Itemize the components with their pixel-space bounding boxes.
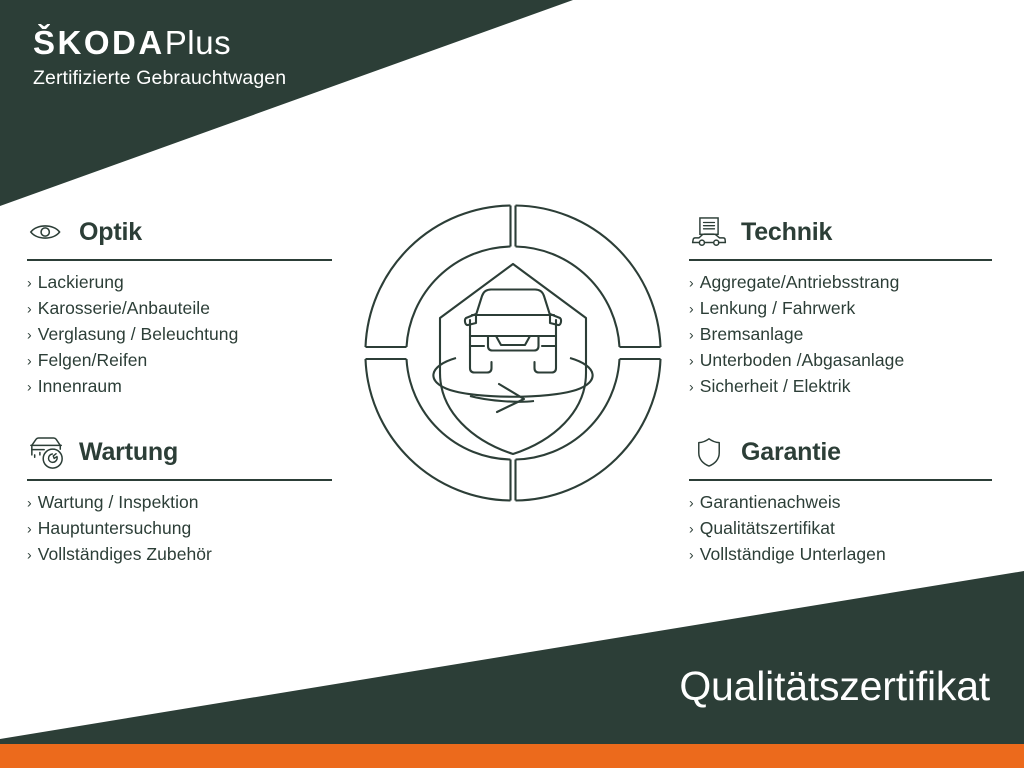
list-item: ›Lenkung / Fahrwerk xyxy=(689,296,1001,322)
section-wartung-title: Wartung xyxy=(79,438,178,467)
section-optik: Optik ›Lackierung ›Karosserie/Anbauteile… xyxy=(27,212,339,401)
chevron-right-icon: › xyxy=(27,349,32,374)
chevron-right-icon: › xyxy=(689,375,694,400)
list-item-label: Sicherheit / Elektrik xyxy=(700,374,851,399)
list-item: ›Hauptuntersuchung xyxy=(27,516,339,542)
footer-green-wedge xyxy=(0,571,1024,745)
chevron-right-icon: › xyxy=(27,490,32,515)
orbit-ellipse xyxy=(433,358,592,402)
list-item-label: Karosserie/Anbauteile xyxy=(38,296,210,321)
inner-ring xyxy=(407,247,620,460)
section-optik-divider xyxy=(27,259,332,261)
list-item: ›Bremsanlage xyxy=(689,322,1001,348)
section-technik: Technik ›Aggregate/Antriebsstrang ›Lenku… xyxy=(689,212,1001,401)
brand-suffix: Plus xyxy=(165,24,232,61)
chevron-right-icon: › xyxy=(689,516,694,541)
list-item-label: Lackierung xyxy=(38,270,124,295)
section-garantie-title: Garantie xyxy=(741,438,841,467)
chevron-right-icon: › xyxy=(27,542,32,567)
list-item-label: Lenkung / Fahrwerk xyxy=(700,296,856,321)
section-wartung-list: ›Wartung / Inspektion ›Hauptuntersuchung… xyxy=(27,490,339,569)
list-item: ›Vollständiges Zubehör xyxy=(27,542,339,568)
chevron-right-icon: › xyxy=(689,542,694,567)
list-item-label: Unterboden /Abgasanlage xyxy=(700,348,905,373)
section-garantie: Garantie ›Garantienachweis ›Qualitätszer… xyxy=(689,432,1001,568)
section-optik-list: ›Lackierung ›Karosserie/Anbauteile ›Verg… xyxy=(27,270,339,401)
section-wartung-header: Wartung xyxy=(27,432,339,472)
chevron-right-icon: › xyxy=(689,296,694,321)
car-shield-ring-emblem xyxy=(358,198,668,508)
section-garantie-divider xyxy=(689,479,992,481)
list-item-label: Vollständiges Zubehör xyxy=(38,542,212,567)
section-wartung-divider xyxy=(27,479,332,481)
section-technik-list: ›Aggregate/Antriebsstrang ›Lenkung / Fah… xyxy=(689,270,1001,401)
list-item-label: Aggregate/Antriebsstrang xyxy=(700,270,900,295)
section-technik-divider xyxy=(689,259,992,261)
chevron-right-icon: › xyxy=(689,270,694,295)
list-item: ›Unterboden /Abgasanlage xyxy=(689,348,1001,374)
brand-title: ŠKODAPlus xyxy=(33,24,286,62)
shield-outline xyxy=(440,264,586,454)
chevron-right-icon: › xyxy=(689,490,694,515)
list-item: ›Karosserie/Anbauteile xyxy=(27,296,339,322)
section-garantie-header: Garantie xyxy=(689,432,1001,472)
list-item: ›Sicherheit / Elektrik xyxy=(689,374,1001,400)
list-item: ›Wartung / Inspektion xyxy=(27,490,339,516)
car-front-icon xyxy=(465,290,561,373)
orbit-arrow-head xyxy=(497,384,524,412)
eye-icon xyxy=(27,214,67,250)
list-item: ›Lackierung xyxy=(27,270,339,296)
list-item-label: Verglasung / Beleuchtung xyxy=(38,322,239,347)
list-item: ›Qualitätszertifikat xyxy=(689,516,1001,542)
list-item-label: Vollständige Unterlagen xyxy=(700,542,886,567)
section-optik-title: Optik xyxy=(79,218,142,247)
chevron-right-icon: › xyxy=(689,322,694,347)
list-item: ›Vollständige Unterlagen xyxy=(689,542,1001,568)
section-garantie-list: ›Garantienachweis ›Qualitätszertifikat ›… xyxy=(689,490,1001,569)
brand-subtitle: Zertifizierte Gebrauchtwagen xyxy=(33,66,286,90)
orange-accent-bar xyxy=(0,744,1024,768)
list-item-label: Innenraum xyxy=(38,374,122,399)
list-item: ›Innenraum xyxy=(27,374,339,400)
chevron-right-icon: › xyxy=(27,270,32,295)
brand-lockup: ŠKODAPlus Zertifizierte Gebrauchtwagen xyxy=(33,24,286,90)
list-item-label: Bremsanlage xyxy=(700,322,804,347)
footer-title: Qualitätszertifikat xyxy=(679,662,990,710)
list-item: ›Felgen/Reifen xyxy=(27,348,339,374)
chevron-right-icon: › xyxy=(27,516,32,541)
list-item-label: Felgen/Reifen xyxy=(38,348,148,373)
list-item-label: Garantienachweis xyxy=(700,490,841,515)
chevron-right-icon: › xyxy=(27,296,32,321)
outer-ring xyxy=(366,206,661,501)
list-item-label: Wartung / Inspektion xyxy=(38,490,199,515)
list-item: ›Garantienachweis xyxy=(689,490,1001,516)
shield-icon xyxy=(689,434,729,470)
list-item-label: Qualitätszertifikat xyxy=(700,516,835,541)
section-technik-title: Technik xyxy=(741,218,832,247)
section-optik-header: Optik xyxy=(27,212,339,252)
list-item: ›Verglasung / Beleuchtung xyxy=(27,322,339,348)
list-item: ›Aggregate/Antriebsstrang xyxy=(689,270,1001,296)
chevron-right-icon: › xyxy=(27,322,32,347)
chevron-right-icon: › xyxy=(27,375,32,400)
car-wrench-icon xyxy=(27,434,67,470)
list-item-label: Hauptuntersuchung xyxy=(38,516,192,541)
chevron-right-icon: › xyxy=(689,349,694,374)
section-technik-header: Technik xyxy=(689,212,1001,252)
brand-name: ŠKODA xyxy=(33,24,165,61)
section-wartung: Wartung ›Wartung / Inspektion ›Hauptunte… xyxy=(27,432,339,568)
car-document-icon xyxy=(689,214,729,250)
